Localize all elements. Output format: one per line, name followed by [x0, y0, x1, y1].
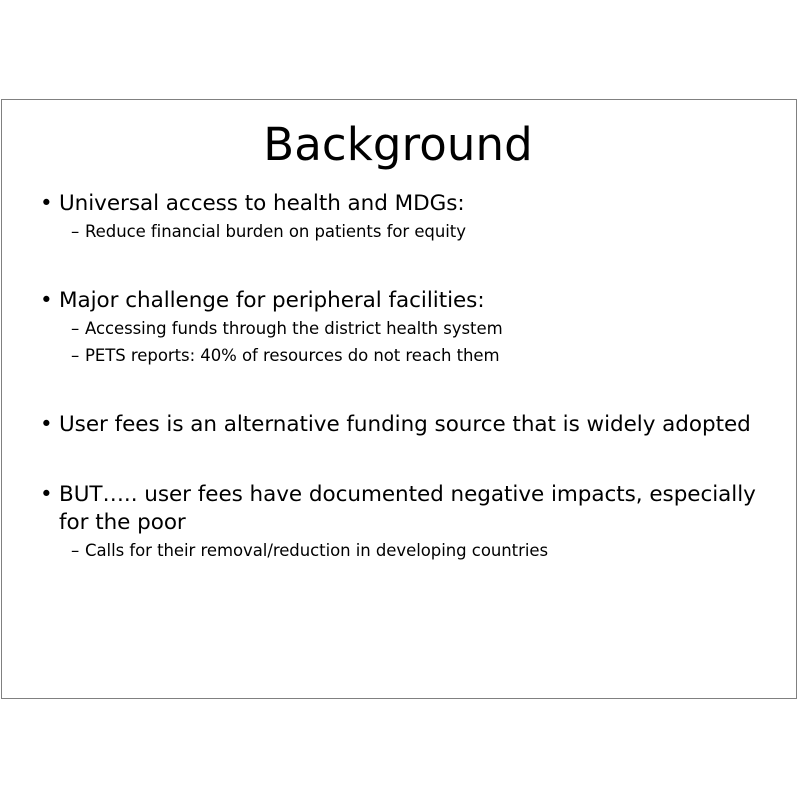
sub-bullet-item: – Reduce financial burden on patients fo…	[40, 218, 780, 245]
bullet-spacer	[40, 245, 780, 273]
sub-bullet-text: Reduce financial burden on patients for …	[85, 222, 466, 241]
sub-bullet-item: – Calls for their removal/reduction in d…	[40, 537, 780, 564]
sub-bullet-item: – PETS reports: 40% of resources do not …	[40, 342, 780, 369]
sub-bullet-text: Calls for their removal/reduction in dev…	[85, 541, 548, 560]
dash-marker-icon: –	[71, 342, 79, 369]
bullet-marker-icon: •	[40, 190, 53, 218]
bullet-item: • Universal access to health and MDGs:	[40, 190, 780, 218]
bullet-spacer	[40, 439, 780, 467]
bullet-spacer	[40, 273, 780, 287]
bullet-item: • User fees is an alternative funding so…	[40, 411, 780, 439]
bullet-spacer	[40, 467, 780, 481]
bullet-text: User fees is an alternative funding sour…	[59, 412, 751, 437]
dash-marker-icon: –	[71, 218, 79, 245]
slide-body: • Universal access to health and MDGs: –…	[40, 190, 780, 564]
bullet-spacer	[40, 397, 780, 411]
sub-bullet-text: PETS reports: 40% of resources do not re…	[85, 346, 500, 365]
bullet-marker-icon: •	[40, 287, 53, 315]
bullet-item: • Major challenge for peripheral facilit…	[40, 287, 780, 315]
bullet-marker-icon: •	[40, 481, 53, 509]
dash-marker-icon: –	[71, 537, 79, 564]
slide-title: Background	[0, 119, 796, 171]
bullet-spacer	[40, 369, 780, 397]
bullet-text: Major challenge for peripheral facilitie…	[59, 288, 485, 313]
slide-canvas: Background • Universal access to health …	[0, 0, 800, 800]
bullet-marker-icon: •	[40, 411, 53, 439]
dash-marker-icon: –	[71, 315, 79, 342]
sub-bullet-item: – Accessing funds through the district h…	[40, 315, 780, 342]
bullet-text: BUT….. user fees have documented negativ…	[59, 482, 756, 535]
bullet-item: • BUT….. user fees have documented negat…	[40, 481, 780, 537]
bullet-text: Universal access to health and MDGs:	[59, 191, 465, 216]
sub-bullet-text: Accessing funds through the district hea…	[85, 319, 503, 338]
